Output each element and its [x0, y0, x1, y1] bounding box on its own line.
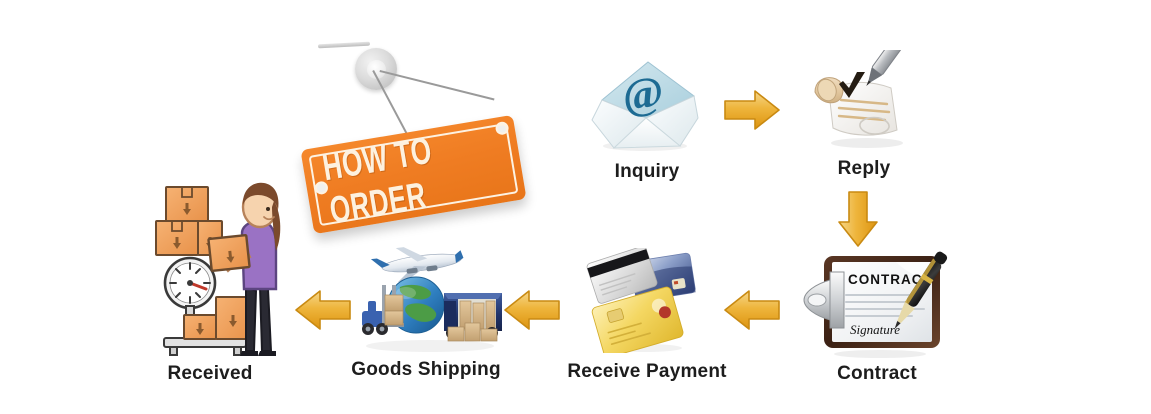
credit-cards-icon: [586, 248, 701, 353]
envelope-at-icon: @: [588, 56, 700, 152]
sign-title-text: HOW TO ORDER: [318, 110, 508, 238]
arrow-down-icon: [835, 190, 881, 253]
step-label-goods-shipping: Goods Shipping: [351, 359, 501, 381]
arrow-left-icon: [294, 288, 352, 337]
arrow-left-icon: [723, 288, 781, 337]
plane-globe-truck-icon: [352, 243, 510, 358]
clipboard-contract-pen-icon: CONTRACT Signature: [800, 250, 950, 360]
sign-eyelet-right: [495, 121, 510, 136]
warehouse-worker-boxes-scale-icon: [150, 175, 300, 360]
arrow-right-icon: [723, 88, 781, 137]
how-to-order-sign-group: HOW TO ORDER: [300, 40, 540, 240]
step-label-received: Received: [167, 363, 252, 385]
step-label-receive-payment: Receive Payment: [567, 361, 726, 383]
step-label-reply: Reply: [838, 158, 891, 180]
step-label-contract: Contract: [837, 363, 917, 385]
svg-text:@: @: [620, 67, 667, 121]
hook-bar: [318, 42, 370, 49]
sign-wire-right: [380, 70, 495, 100]
how-to-order-sign: HOW TO ORDER: [300, 115, 526, 234]
how-to-order-flow-diagram: HOW TO ORDER: [0, 0, 1151, 414]
step-label-inquiry: Inquiry: [615, 161, 680, 183]
contract-signature: Signature: [850, 322, 900, 337]
arrow-left-icon: [503, 288, 561, 337]
sign-eyelet-left: [314, 180, 329, 195]
scroll-checkmark-pen-icon: [805, 50, 925, 155]
